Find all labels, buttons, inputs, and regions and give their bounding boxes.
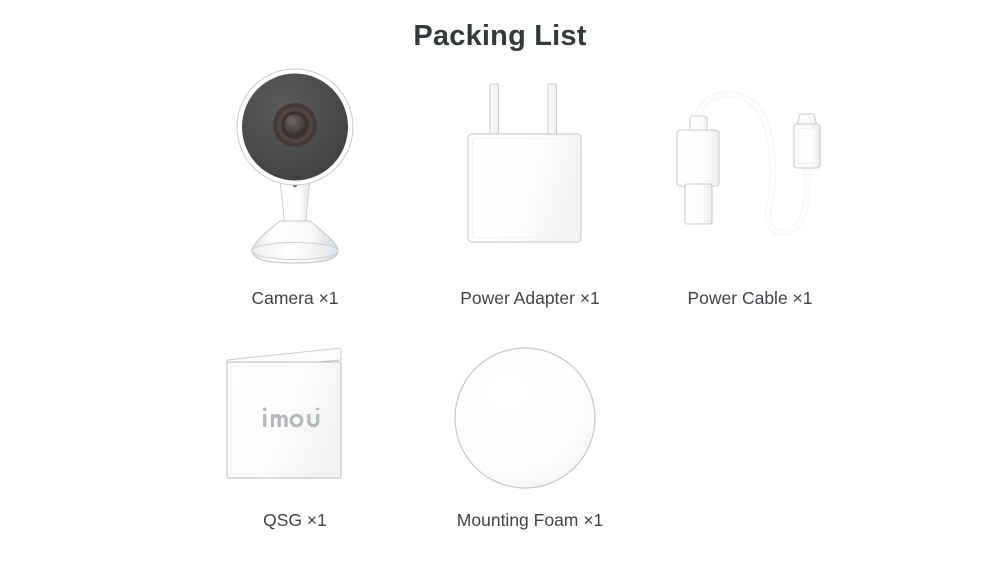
packing-item-camera: Camera ×1 (185, 70, 405, 270)
micro-usb-connector (794, 114, 820, 168)
camera-illustration (185, 70, 405, 270)
power-cable-illustration (640, 70, 860, 270)
booklet-front-cover (227, 362, 341, 478)
adapter-prong-left (490, 84, 499, 136)
camera-lens (273, 103, 317, 147)
camera-head (237, 69, 353, 185)
booklet-illustration (185, 340, 405, 500)
foam-disc (455, 348, 595, 488)
usb-a-connector (677, 116, 719, 224)
power-adapter-illustration (420, 70, 640, 270)
packing-item-power-cable: Power Cable ×1 (640, 70, 860, 270)
mounting-foam-illustration (420, 340, 640, 500)
packing-item-qsg: QSG ×1 (185, 340, 405, 500)
page-title: Packing List (0, 20, 1000, 53)
adapter-body (468, 134, 581, 242)
item-label-power-cable: Power Cable ×1 (640, 288, 860, 309)
item-label-qsg: QSG ×1 (185, 510, 405, 531)
camera-base (252, 221, 338, 263)
item-label-mounting-foam: Mounting Foam ×1 (420, 510, 640, 531)
packing-item-power-adapter: Power Adapter ×1 (420, 70, 640, 270)
packing-item-mounting-foam: Mounting Foam ×1 (420, 340, 640, 500)
adapter-prong-right (548, 84, 557, 136)
item-label-camera: Camera ×1 (185, 288, 405, 309)
packing-list-page: Packing List (0, 0, 1000, 563)
item-label-power-adapter: Power Adapter ×1 (420, 288, 640, 309)
